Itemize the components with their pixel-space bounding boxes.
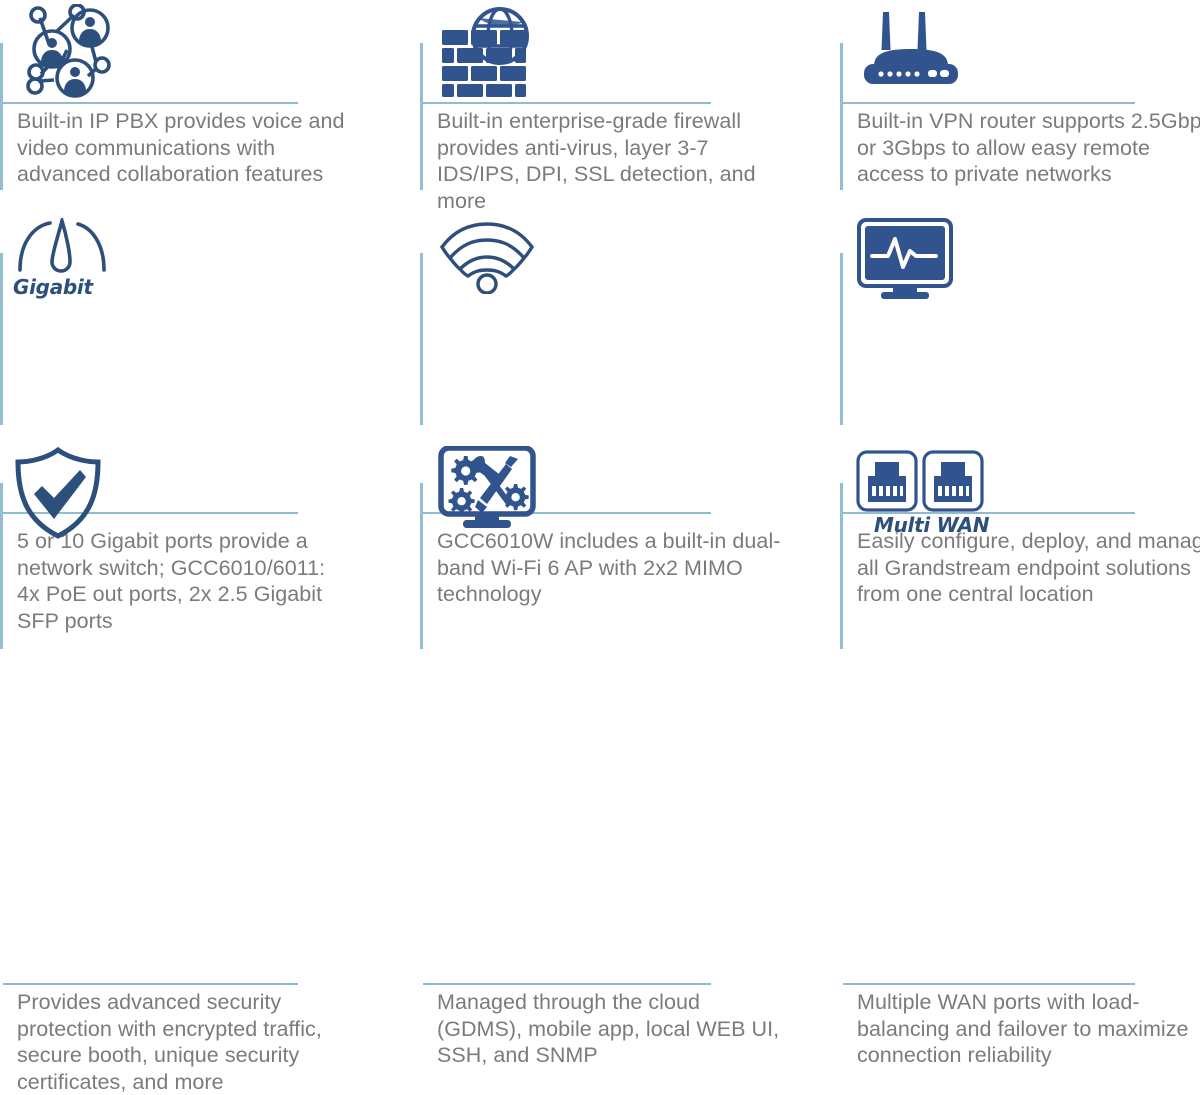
cell-horizontal-rule bbox=[843, 983, 1135, 985]
icon-area bbox=[856, 218, 956, 304]
feature-description: Provides advanced security protection wi… bbox=[17, 989, 347, 1095]
icon-area bbox=[14, 4, 118, 96]
feature-description: Managed through the cloud (GDMS), mobile… bbox=[437, 989, 782, 1069]
feature-cell-vpn-router: Built-in VPN router supports 2.5Gbps or … bbox=[840, 0, 1200, 210]
cell-horizontal-rule bbox=[423, 102, 711, 104]
gigabit-badge-label: Gigabit bbox=[13, 275, 93, 299]
feature-cell-ip-pbx: Built-in IP PBX provides voice and video… bbox=[0, 0, 420, 210]
icon-area bbox=[10, 446, 106, 536]
icon-area bbox=[856, 10, 966, 102]
icon-area: Multi WAN bbox=[856, 450, 989, 540]
icon-area bbox=[438, 446, 542, 536]
cell-vertical-rule bbox=[0, 43, 3, 190]
network-people-icon bbox=[14, 4, 118, 100]
router-antenna-icon bbox=[856, 10, 966, 92]
wifi-signal-icon bbox=[438, 222, 536, 294]
icon-area: Gigabit bbox=[12, 218, 112, 304]
cell-vertical-rule bbox=[0, 253, 3, 425]
icon-area bbox=[438, 222, 536, 308]
feature-description: Multiple WAN ports with load-balancing a… bbox=[857, 989, 1200, 1069]
feature-cell-central-management: Easily configure, deploy, and manage all… bbox=[840, 210, 1200, 440]
cell-vertical-rule bbox=[420, 483, 423, 649]
firewall-globe-icon bbox=[438, 6, 538, 98]
rj45-ports-icon bbox=[856, 450, 984, 512]
cell-vertical-rule bbox=[420, 253, 423, 425]
cell-vertical-rule bbox=[840, 43, 843, 190]
cell-horizontal-rule bbox=[423, 983, 711, 985]
feature-cell-firewall: Built-in enterprise-grade firewall provi… bbox=[420, 0, 840, 210]
cell-horizontal-rule bbox=[3, 102, 298, 104]
feature-description: Built-in IP PBX provides voice and video… bbox=[17, 108, 347, 188]
gigabit-arch-icon bbox=[12, 218, 112, 274]
feature-cell-multi-wan: Multi WAN Multiple WAN ports with load-b… bbox=[840, 440, 1200, 648]
cell-horizontal-rule bbox=[3, 983, 298, 985]
feature-cell-cloud-management: Managed through the cloud (GDMS), mobile… bbox=[420, 440, 840, 648]
feature-description: Built-in VPN router supports 2.5Gbps or … bbox=[857, 108, 1200, 188]
monitor-tools-icon bbox=[438, 446, 542, 534]
cell-vertical-rule bbox=[840, 483, 843, 649]
multi-wan-badge-label: Multi WAN bbox=[874, 513, 989, 537]
feature-cell-wifi-6-ap: GCC6010W includes a built-in dual-band W… bbox=[420, 210, 840, 440]
feature-cell-gigabit-ports: Gigabit 5 or 10 Gigabit ports provide a … bbox=[0, 210, 420, 440]
feature-grid: Built-in IP PBX provides voice and video… bbox=[0, 0, 1200, 648]
feature-cell-security-protection: Provides advanced security protection wi… bbox=[0, 440, 420, 648]
cell-horizontal-rule bbox=[843, 102, 1135, 104]
shield-check-icon bbox=[10, 446, 106, 540]
feature-description: Built-in enterprise-grade firewall provi… bbox=[437, 108, 782, 214]
monitor-pulse-icon bbox=[856, 218, 956, 300]
cell-vertical-rule bbox=[420, 43, 423, 190]
cell-vertical-rule bbox=[0, 483, 3, 649]
icon-area bbox=[438, 6, 538, 98]
cell-vertical-rule bbox=[840, 253, 843, 425]
